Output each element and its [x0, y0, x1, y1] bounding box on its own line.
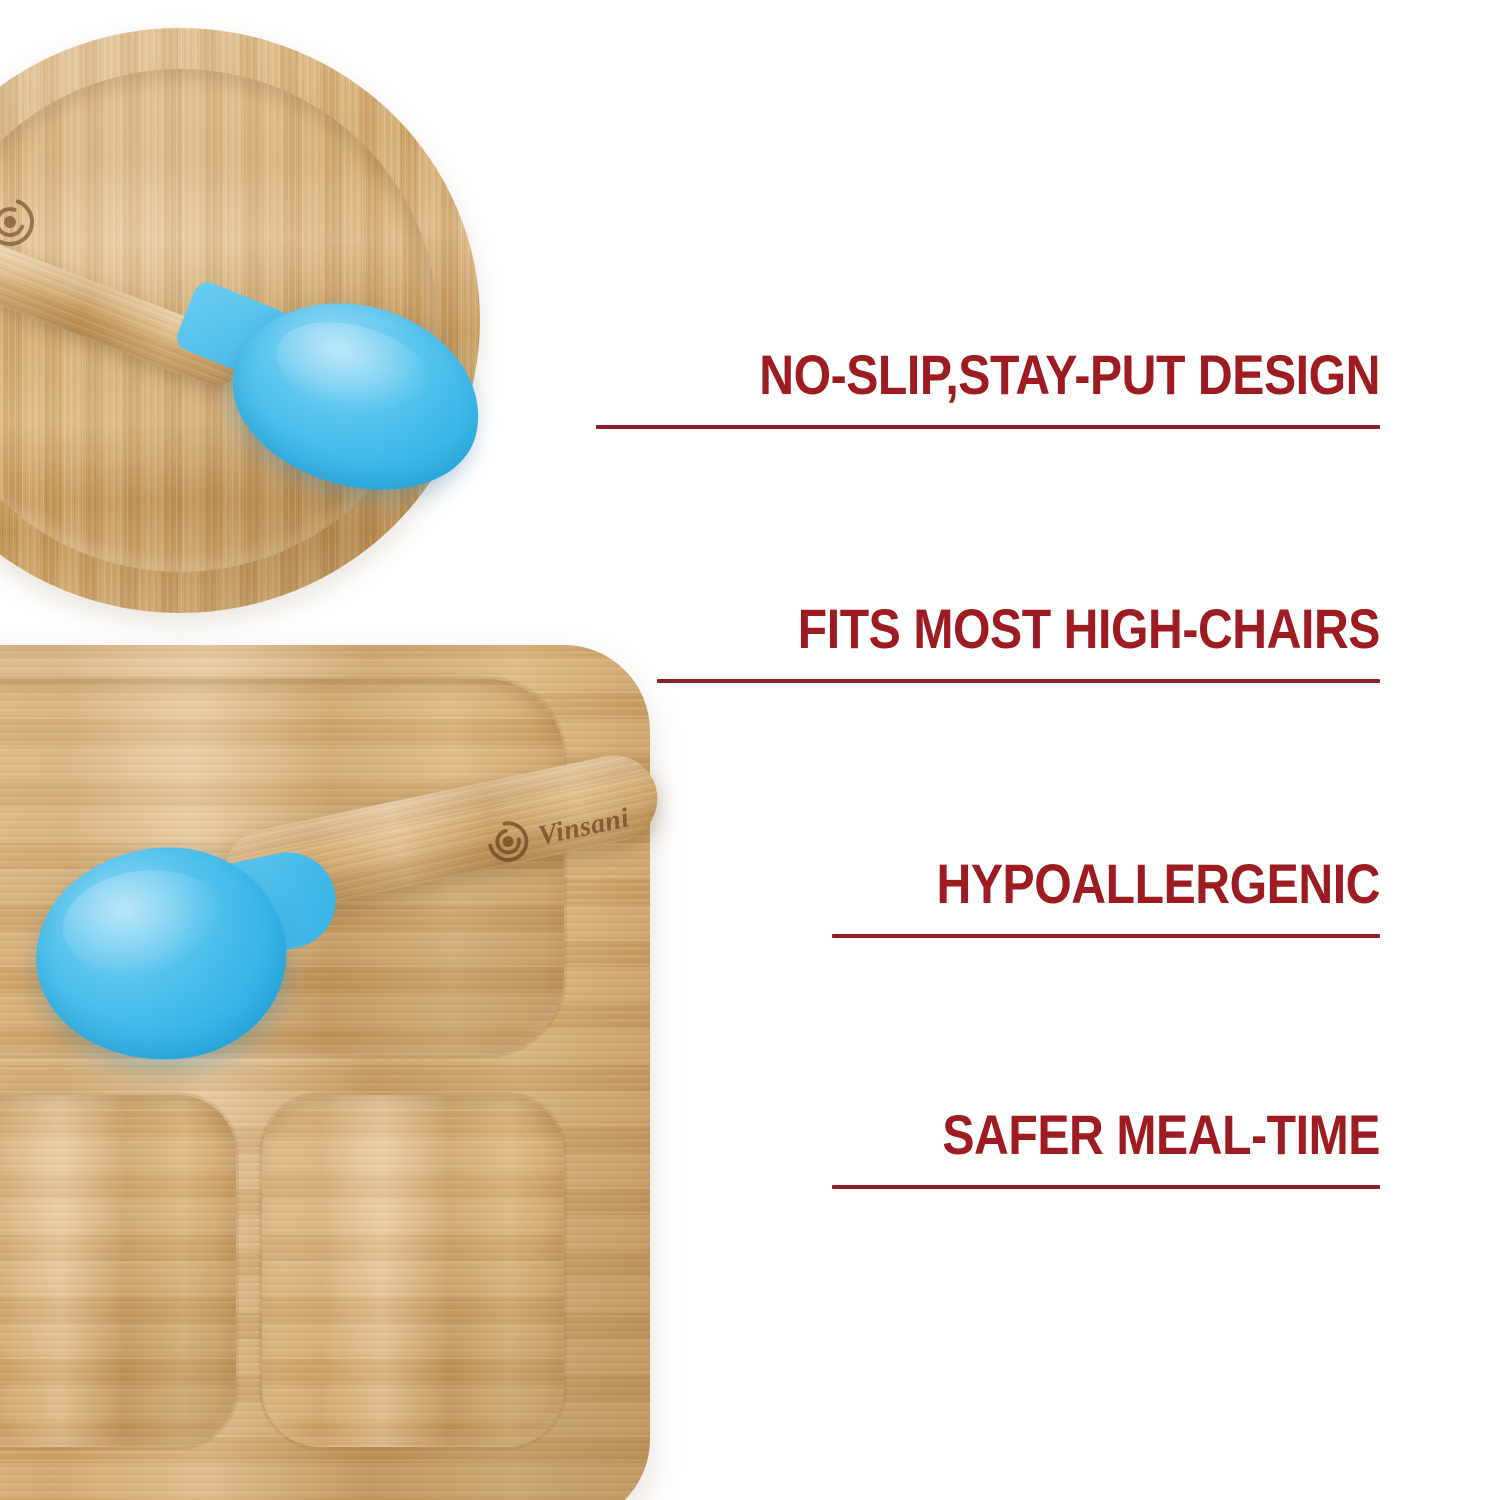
feature-list: NO-SLIP,STAY-PUT DESIGN FITS MOST HIGH-C… — [560, 0, 1500, 1500]
feature-underline — [657, 679, 1380, 683]
plate-compartment-bottom-left — [0, 1095, 236, 1447]
feature-item-high-chairs: FITS MOST HIGH-CHAIRS — [580, 600, 1380, 683]
spiral-swirl-icon — [478, 811, 538, 875]
product-feature-graphic: Vinsani NO-SLIP,STAY-PUT DESIGN FITS MOS… — [0, 0, 1500, 1500]
feature-underline — [596, 425, 1380, 429]
feature-label: FITS MOST HIGH-CHAIRS — [692, 600, 1380, 657]
feature-item-hypoallergenic: HYPOALLERGENIC — [580, 855, 1380, 938]
feature-label: NO-SLIP,STAY-PUT DESIGN — [692, 346, 1380, 403]
feature-label: SAFER MEAL-TIME — [692, 1106, 1380, 1163]
bowl-spoon-image — [0, 158, 460, 488]
feature-item-safer-meal-time: SAFER MEAL-TIME — [580, 1106, 1380, 1189]
plate-compartment-bottom-right — [262, 1095, 564, 1447]
feature-label: HYPOALLERGENIC — [692, 855, 1380, 912]
feature-item-no-slip: NO-SLIP,STAY-PUT DESIGN — [580, 346, 1380, 429]
feature-underline — [832, 1185, 1380, 1189]
spiral-swirl-icon — [0, 183, 49, 261]
feature-underline — [832, 934, 1380, 938]
